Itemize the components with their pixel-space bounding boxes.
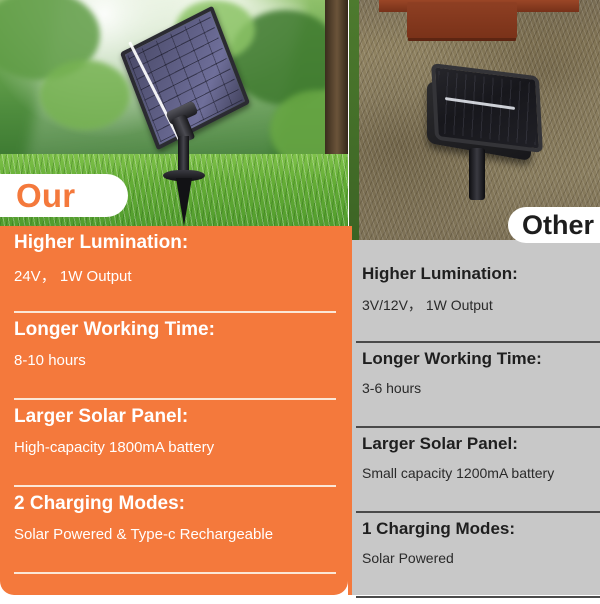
- feature-divider: [14, 398, 336, 400]
- other-product-photo: [349, 0, 600, 240]
- feature-divider: [356, 426, 600, 428]
- other-feature-list: Higher Lumination: 3V/12V， 1W Output Lon…: [362, 264, 600, 604]
- feature-title: Higher Lumination:: [14, 232, 340, 254]
- our-solar-lamp: [125, 22, 245, 212]
- our-badge: Our: [0, 174, 128, 217]
- feature-row: 2 Charging Modes: Solar Powered & Type-c…: [14, 493, 340, 580]
- feature-title: Larger Solar Panel:: [362, 434, 600, 454]
- green-edge-strip: [349, 0, 359, 240]
- feature-divider: [356, 596, 600, 598]
- feature-value: 3-6 hours: [362, 369, 600, 396]
- feature-divider: [14, 485, 336, 487]
- comparison-infographic: Our Other Higher Lumination: 24V， 1W Out…: [0, 0, 600, 600]
- other-solar-lamp: [427, 62, 557, 202]
- lamp-pole: [469, 148, 485, 200]
- feature-value: Small capacity 1200mA battery: [362, 454, 600, 481]
- feature-value: 24V， 1W Output: [14, 254, 340, 286]
- feature-value: 8-10 hours: [14, 341, 340, 369]
- feature-title: Longer Working Time:: [14, 319, 340, 341]
- feature-title: Higher Lumination:: [362, 264, 600, 284]
- feature-value: High-capacity 1800mA battery: [14, 428, 340, 456]
- solar-panel: [431, 63, 543, 153]
- feature-row: Larger Solar Panel: High-capacity 1800mA…: [14, 406, 340, 493]
- feature-title: Larger Solar Panel:: [14, 406, 340, 428]
- our-feature-list: Higher Lumination: 24V， 1W Output Longer…: [14, 232, 340, 580]
- wooden-fence: [407, 2, 517, 38]
- feature-row: Larger Solar Panel: Small capacity 1200m…: [362, 434, 600, 519]
- feature-value: 3V/12V， 1W Output: [362, 284, 600, 315]
- our-badge-label: Our: [16, 179, 75, 212]
- foliage-blob: [40, 60, 130, 130]
- feature-divider: [356, 341, 600, 343]
- feature-divider: [14, 311, 336, 313]
- feature-row: Longer Working Time: 3-6 hours: [362, 349, 600, 434]
- feature-value: Solar Powered & Type-c Rechargeable: [14, 515, 340, 543]
- feature-row: Higher Lumination: 3V/12V， 1W Output: [362, 264, 600, 349]
- feature-value: Solar Powered: [362, 539, 600, 566]
- feature-row: Higher Lumination: 24V， 1W Output: [14, 232, 340, 319]
- feature-divider: [356, 511, 600, 513]
- feature-row: 1 Charging Modes: Solar Powered: [362, 519, 600, 604]
- feature-title: 1 Charging Modes:: [362, 519, 600, 539]
- feature-title: 2 Charging Modes:: [14, 493, 340, 515]
- feature-title: Longer Working Time:: [362, 349, 600, 369]
- feature-divider: [14, 572, 336, 574]
- feature-row: Longer Working Time: 8-10 hours: [14, 319, 340, 406]
- other-badge-label: Other: [522, 212, 594, 239]
- tree-trunk: [325, 0, 348, 180]
- panel-seam: [348, 226, 352, 595]
- ground-spike: [176, 178, 192, 226]
- other-badge: Other: [508, 207, 600, 243]
